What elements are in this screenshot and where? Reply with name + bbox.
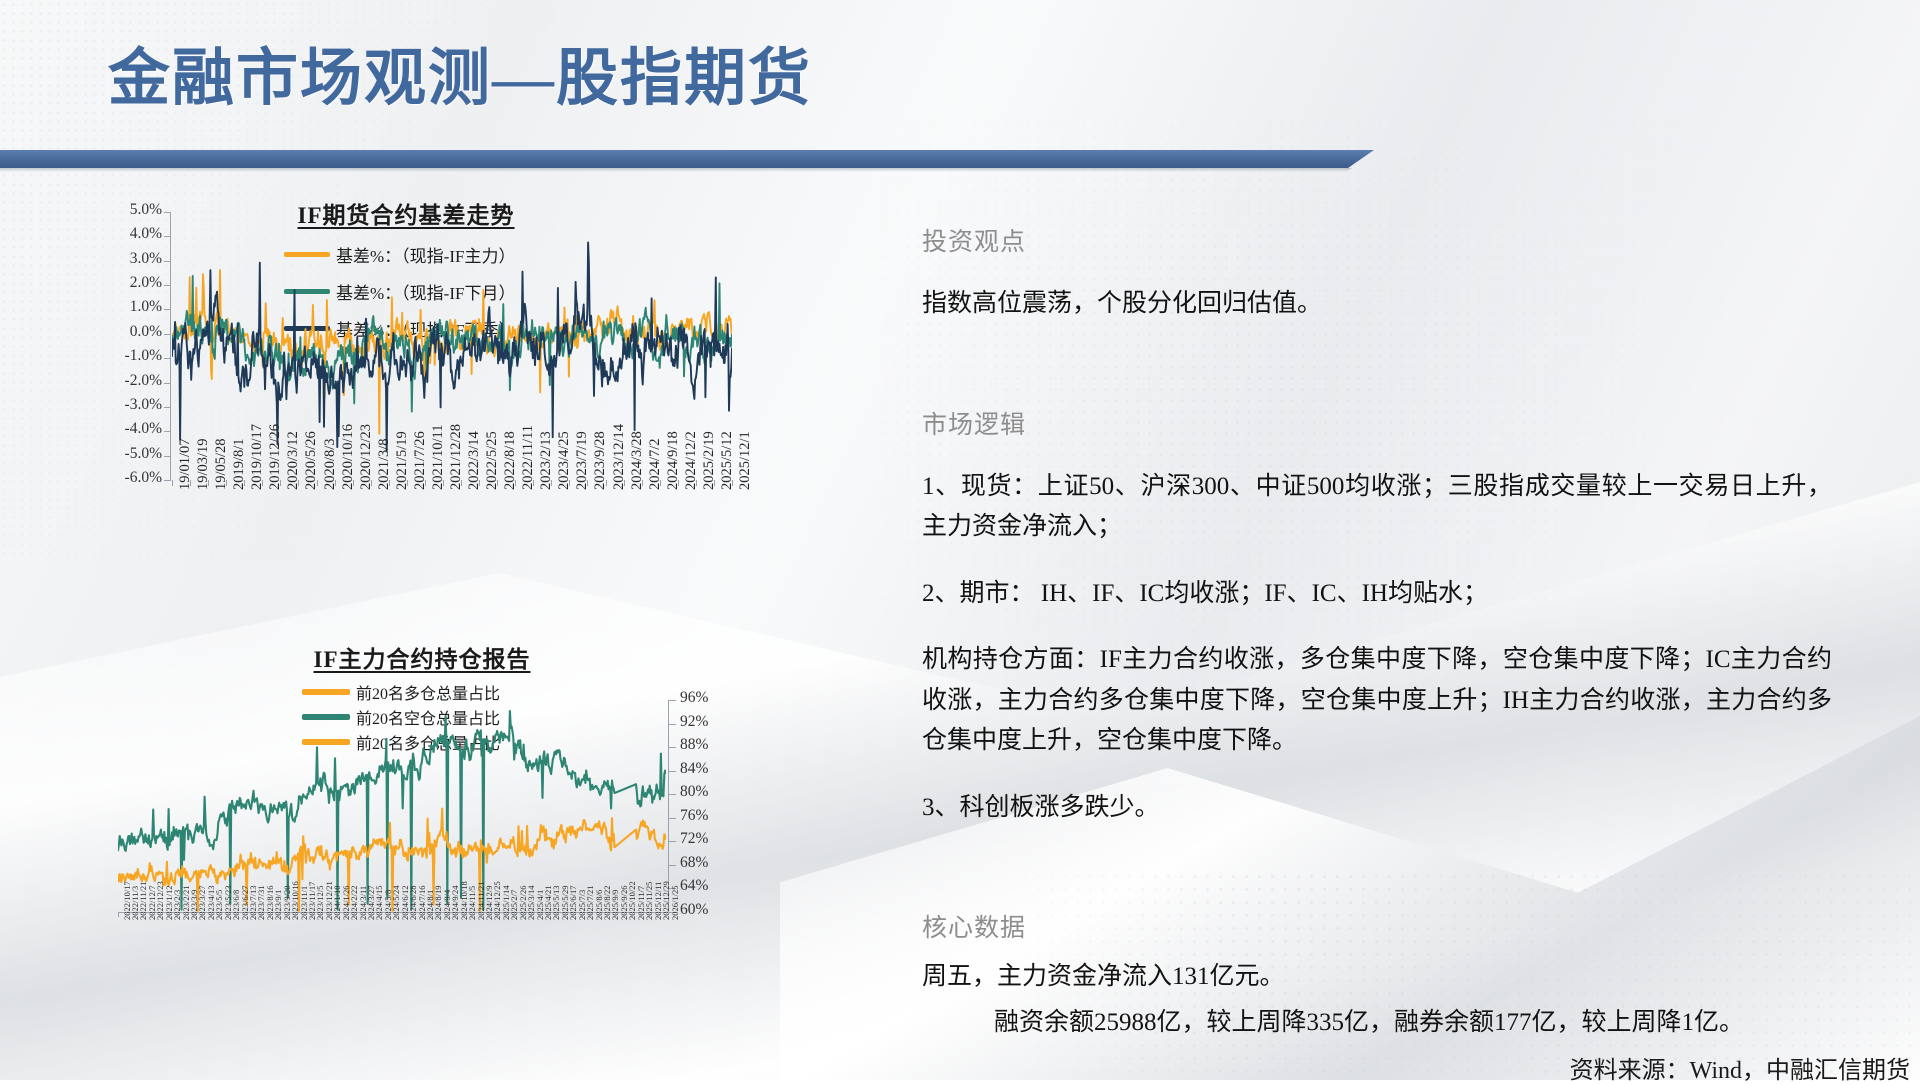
x-tick-mark [556, 912, 557, 917]
x-tick-label: 2023/2/13 [538, 431, 555, 490]
market-logic-item-positions: 机构持仓方面：IF主力合约收涨，多仓集中度下降，空仓集中度下降；IC主力合约收涨… [922, 640, 1832, 762]
x-tick-label: 2022/3/14 [466, 431, 483, 490]
x-tick-mark [481, 912, 482, 917]
x-tick-mark [582, 912, 583, 917]
x-tick-mark [371, 480, 372, 486]
y-tick-label: 84% [680, 760, 736, 778]
x-tick-label: 2025/5/12 [719, 431, 736, 490]
x-tick-mark [329, 912, 330, 917]
commentary-panel: 投资观点 指数高位震荡，个股分化回归估值。 市场逻辑 1、现货：上证50、沪深3… [922, 222, 1832, 854]
x-tick-mark [514, 912, 515, 917]
x-tick-mark [118, 912, 119, 917]
x-tick-label: 19/03/19 [195, 438, 212, 490]
y-tick-mark [669, 700, 676, 701]
x-tick-mark [287, 912, 288, 917]
x-tick-label: 2025/12/1 [737, 431, 754, 490]
x-tick-mark [253, 912, 254, 917]
x-tick-mark [177, 912, 178, 917]
market-logic-item-futures: 2、期市： IH、IF、IC均收涨；IF、IC、IH均贴水； [922, 574, 1832, 615]
y-tick-label: 72% [680, 830, 736, 848]
y-tick-mark [164, 334, 171, 335]
x-tick-label: 2024/12/2 [683, 431, 700, 490]
x-tick-mark [573, 912, 574, 917]
x-tick-label: 2021/7/26 [412, 431, 429, 490]
x-tick-mark [624, 480, 625, 486]
x-tick-mark [632, 912, 633, 917]
x-tick-mark [228, 912, 229, 917]
y-tick-mark [669, 724, 676, 725]
x-tick-mark [540, 912, 541, 917]
y-tick-label: -2.0% [98, 372, 162, 390]
x-tick-mark [278, 912, 279, 917]
y-tick-label: 3.0% [98, 250, 162, 268]
x-tick-mark [413, 912, 414, 917]
x-tick-mark [135, 912, 136, 917]
section-spacer [922, 351, 1832, 405]
x-tick-label: 2023/7/19 [574, 431, 591, 490]
x-tick-mark [455, 912, 456, 917]
market-logic-item-star: 3、科创板涨多跌少。 [922, 788, 1832, 829]
header-accent-bar-shadow [0, 168, 1352, 172]
x-tick-mark [190, 480, 191, 486]
x-tick-mark [396, 912, 397, 917]
x-tick-label: 2026/1/25 [670, 886, 680, 920]
y-tick-label: 88% [680, 736, 736, 754]
y-tick-label: 4.0% [98, 225, 162, 243]
x-tick-mark [660, 480, 661, 486]
x-tick-label: 2022/8/18 [502, 431, 519, 490]
x-tick-mark [317, 480, 318, 486]
x-tick-mark [160, 912, 161, 917]
x-tick-mark [335, 480, 336, 486]
x-tick-mark [641, 912, 642, 917]
x-tick-mark [548, 912, 549, 917]
x-tick-label: 2020/12/23 [358, 424, 375, 490]
x-tick-label: 2022/11/11 [520, 425, 537, 490]
x-tick-mark [443, 480, 444, 486]
x-tick-mark [422, 912, 423, 917]
chart-if-position-title: IF主力合约持仓报告 [172, 640, 672, 674]
x-tick-mark [379, 912, 380, 917]
x-tick-label: 2024/9/18 [665, 431, 682, 490]
x-tick-mark [447, 912, 448, 917]
x-tick-mark [244, 480, 245, 486]
x-tick-mark [590, 912, 591, 917]
x-tick-mark [208, 480, 209, 486]
x-tick-label: 2020/8/3 [322, 438, 339, 490]
x-tick-mark [152, 912, 153, 917]
x-tick-mark [515, 480, 516, 486]
y-tick-label: 92% [680, 713, 736, 731]
x-tick-mark [489, 912, 490, 917]
x-tick-mark [169, 912, 170, 917]
x-tick-mark [523, 912, 524, 917]
x-tick-mark [461, 480, 462, 486]
x-tick-mark [464, 912, 465, 917]
y-tick-mark [164, 358, 171, 359]
x-tick-mark [497, 480, 498, 486]
core-data-line-netinflow: 周五，主力资金净流入131亿元。 [922, 956, 1920, 992]
y-tick-mark [164, 456, 171, 457]
y-tick-label: -5.0% [98, 445, 162, 463]
market-logic-item-spot: 1、现货：上证50、沪深300、中证500均收涨；三股指成交量较上一交易日上升，… [922, 467, 1832, 548]
x-tick-mark [270, 912, 271, 917]
core-data-panel: 核心数据 周五，主力资金净流入131亿元。 融资余额25988亿，较上周降335… [922, 908, 1920, 1085]
x-tick-label: 2023/9/28 [592, 431, 609, 490]
chart-if-position: IF主力合约持仓报告 前20名多仓总量占比 前20名空仓总量占比 前20名多仓总… [112, 640, 832, 1050]
x-tick-mark [472, 912, 473, 917]
x-tick-mark [262, 480, 263, 486]
x-tick-mark [346, 912, 347, 917]
x-tick-mark [362, 912, 363, 917]
y-tick-mark [164, 480, 171, 481]
x-tick-mark [642, 480, 643, 486]
y-tick-label: -4.0% [98, 420, 162, 438]
y-tick-mark [669, 794, 676, 795]
x-tick-mark [295, 912, 296, 917]
x-tick-label: 2020/10/16 [340, 424, 357, 490]
x-tick-mark [606, 480, 607, 486]
y-tick-label: -6.0% [98, 469, 162, 487]
y-tick-mark [669, 771, 676, 772]
core-data-line-margin: 融资余额25988亿，较上周降335亿，融券余额177亿，较上周降1亿。 [994, 1002, 1920, 1038]
x-tick-mark [389, 480, 390, 486]
x-tick-mark [658, 912, 659, 917]
x-tick-mark [438, 912, 439, 917]
y-tick-mark [669, 818, 676, 819]
x-tick-mark [280, 480, 281, 486]
x-tick-mark [551, 480, 552, 486]
y-tick-mark [164, 212, 171, 213]
header-accent-bar [0, 150, 1374, 168]
core-data-heading: 核心数据 [922, 908, 1920, 944]
x-tick-mark [354, 912, 355, 917]
x-tick-mark [236, 912, 237, 917]
y-tick-mark [164, 261, 171, 262]
x-tick-mark [506, 912, 507, 917]
x-tick-label: 2019/12/26 [267, 424, 284, 490]
x-tick-mark [211, 912, 212, 917]
x-tick-mark [185, 912, 186, 917]
x-tick-mark [615, 912, 616, 917]
x-tick-mark [172, 480, 173, 486]
x-tick-label: 2019/10/17 [249, 424, 266, 490]
x-tick-mark [143, 912, 144, 917]
y-tick-label: -3.0% [98, 396, 162, 414]
y-tick-label: 64% [680, 877, 736, 895]
x-tick-label: 2021/12/28 [448, 424, 465, 490]
x-tick-mark [202, 912, 203, 917]
x-tick-mark [194, 912, 195, 917]
chart-if-basis: IF期货合约基差走势 基差%：（现指-IF主力） 基差%：（现指-IF下月） 基… [96, 196, 836, 596]
x-tick-label: 2021/5/19 [394, 431, 411, 490]
x-tick-mark [666, 912, 667, 917]
x-tick-mark [649, 912, 650, 917]
y-tick-mark [164, 407, 171, 408]
y-tick-label: 1.0% [98, 298, 162, 316]
x-tick-mark [732, 480, 733, 486]
y-tick-mark [164, 309, 171, 310]
x-tick-label: 2020/3/12 [285, 431, 302, 490]
x-tick-mark [261, 912, 262, 917]
y-tick-mark [164, 236, 171, 237]
investment-view-heading: 投资观点 [922, 222, 1832, 258]
x-tick-label: 2025/2/19 [701, 431, 718, 490]
x-tick-mark [353, 480, 354, 486]
market-logic-heading: 市场逻辑 [922, 405, 1832, 441]
x-tick-label: 19/01/07 [177, 438, 194, 490]
y-tick-mark [164, 431, 171, 432]
y-tick-label: 60% [680, 901, 736, 919]
y-tick-label: 76% [680, 807, 736, 825]
y-tick-label: 5.0% [98, 201, 162, 219]
y-tick-label: 2.0% [98, 274, 162, 292]
x-tick-mark [430, 912, 431, 917]
x-tick-label: 2023/12/14 [611, 424, 628, 490]
x-tick-mark [388, 912, 389, 917]
x-tick-mark [533, 480, 534, 486]
x-tick-mark [320, 912, 321, 917]
x-tick-mark [226, 480, 227, 486]
y-tick-label: 80% [680, 783, 736, 801]
x-tick-mark [425, 480, 426, 486]
x-tick-mark [497, 912, 498, 917]
x-tick-mark [569, 480, 570, 486]
x-tick-mark [407, 480, 408, 486]
investment-view-body: 指数高位震荡，个股分化回归估值。 [922, 284, 1832, 325]
y-tick-label: 0.0% [98, 323, 162, 341]
x-tick-label: 2024/3/28 [629, 431, 646, 490]
x-tick-mark [126, 912, 127, 917]
x-tick-mark [531, 912, 532, 917]
x-tick-mark [298, 480, 299, 486]
x-tick-mark [624, 912, 625, 917]
x-tick-mark [599, 912, 600, 917]
x-tick-mark [714, 480, 715, 486]
x-tick-label: 2020/5/26 [303, 431, 320, 490]
x-tick-mark [219, 912, 220, 917]
x-tick-label: 2019/8/1 [231, 438, 248, 490]
x-tick-mark [244, 912, 245, 917]
x-tick-mark [312, 912, 313, 917]
x-tick-mark [565, 912, 566, 917]
x-tick-mark [371, 912, 372, 917]
x-tick-mark [337, 912, 338, 917]
y-tick-mark [669, 841, 676, 842]
y-tick-mark [164, 285, 171, 286]
x-tick-mark [587, 480, 588, 486]
x-tick-label: 2024/7/2 [647, 438, 664, 490]
legend-swatch-icon [302, 689, 350, 695]
page-title: 金融市场观测—股指期货 [108, 48, 812, 110]
x-tick-mark [696, 480, 697, 486]
x-tick-mark [405, 912, 406, 917]
x-tick-label: 2021/10/11 [430, 424, 447, 490]
header-band: 金融市场观测—股指期货 [0, 0, 1380, 152]
y-tick-mark [669, 747, 676, 748]
chart-if-position-plot [118, 700, 666, 912]
y-tick-label: 96% [680, 689, 736, 707]
x-tick-label: 2022/5/25 [484, 431, 501, 490]
y-tick-label: 68% [680, 854, 736, 872]
y-tick-mark [669, 865, 676, 866]
x-tick-label: 2023/4/25 [556, 431, 573, 490]
x-tick-mark [678, 480, 679, 486]
x-tick-mark [303, 912, 304, 917]
x-tick-mark [479, 480, 480, 486]
y-tick-label: -1.0% [98, 347, 162, 365]
x-tick-label: 19/05/28 [213, 438, 230, 490]
x-tick-label: 2021/3/8 [376, 438, 393, 490]
x-tick-mark [607, 912, 608, 917]
y-tick-mark [164, 383, 171, 384]
